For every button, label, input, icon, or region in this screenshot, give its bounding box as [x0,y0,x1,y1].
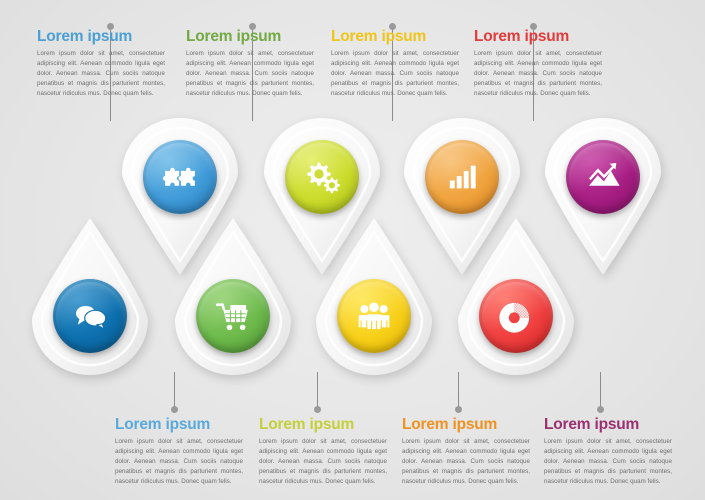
pin-top-2[interactable] [262,118,382,278]
icon-disc-bottom-2[interactable] [196,279,270,353]
icon-disc-bottom-4[interactable] [479,279,553,353]
shopping-cart-icon [212,295,254,337]
connector-dot-bottom-1 [171,406,178,413]
connector-dot-bottom-3 [455,406,462,413]
text-block-bottom-2: Lorem ipsum Lorem ipsum dolor sit amet, … [259,416,387,487]
heading-top-1: Lorem ipsum [37,28,165,45]
text-block-bottom-4: Lorem ipsum Lorem ipsum dolor sit amet, … [544,416,672,487]
chat-bubbles-icon [69,295,111,337]
connector-line-bottom-3 [458,372,459,410]
pie-chart-icon [495,295,537,337]
icon-disc-bottom-1[interactable] [53,279,127,353]
paragraph-top-2: Lorem ipsum dolor sit amet, consectetuer… [186,49,314,99]
text-block-top-1: Lorem ipsum Lorem ipsum dolor sit amet, … [37,28,165,99]
paragraph-bottom-3: Lorem ipsum dolor sit amet, consectetuer… [402,437,530,487]
pin-top-3[interactable] [402,118,522,278]
heading-bottom-3: Lorem ipsum [402,416,530,433]
group-people-icon [353,295,395,337]
connector-line-bottom-1 [174,372,175,410]
heading-top-3: Lorem ipsum [331,28,459,45]
connector-dot-bottom-2 [314,406,321,413]
heading-bottom-2: Lorem ipsum [259,416,387,433]
pin-top-4[interactable] [543,118,663,278]
connector-line-bottom-4 [600,372,601,410]
icon-disc-top-2[interactable] [285,140,359,214]
text-block-top-3: Lorem ipsum Lorem ipsum dolor sit amet, … [331,28,459,99]
heading-top-4: Lorem ipsum [474,28,602,45]
icon-disc-bottom-3[interactable] [337,279,411,353]
paragraph-bottom-1: Lorem ipsum dolor sit amet, consectetuer… [115,437,243,487]
text-block-bottom-3: Lorem ipsum Lorem ipsum dolor sit amet, … [402,416,530,487]
paragraph-top-4: Lorem ipsum dolor sit amet, consectetuer… [474,49,602,99]
area-chart-icon [582,156,624,198]
paragraph-bottom-2: Lorem ipsum dolor sit amet, consectetuer… [259,437,387,487]
pin-top-1[interactable] [120,118,240,278]
puzzle-icon [159,156,201,198]
text-block-top-4: Lorem ipsum Lorem ipsum dolor sit amet, … [474,28,602,99]
paragraph-bottom-4: Lorem ipsum dolor sit amet, consectetuer… [544,437,672,487]
icon-disc-top-3[interactable] [425,140,499,214]
paragraph-top-1: Lorem ipsum dolor sit amet, consectetuer… [37,49,165,99]
gears-icon [301,156,343,198]
icon-disc-top-4[interactable] [566,140,640,214]
heading-bottom-4: Lorem ipsum [544,416,672,433]
paragraph-top-3: Lorem ipsum dolor sit amet, consectetuer… [331,49,459,99]
text-block-bottom-1: Lorem ipsum Lorem ipsum dolor sit amet, … [115,416,243,487]
connector-dot-bottom-4 [597,406,604,413]
icon-disc-top-1[interactable] [143,140,217,214]
heading-top-2: Lorem ipsum [186,28,314,45]
connector-line-bottom-2 [317,372,318,410]
text-block-top-2: Lorem ipsum Lorem ipsum dolor sit amet, … [186,28,314,99]
bar-chart-icon [441,156,483,198]
heading-bottom-1: Lorem ipsum [115,416,243,433]
